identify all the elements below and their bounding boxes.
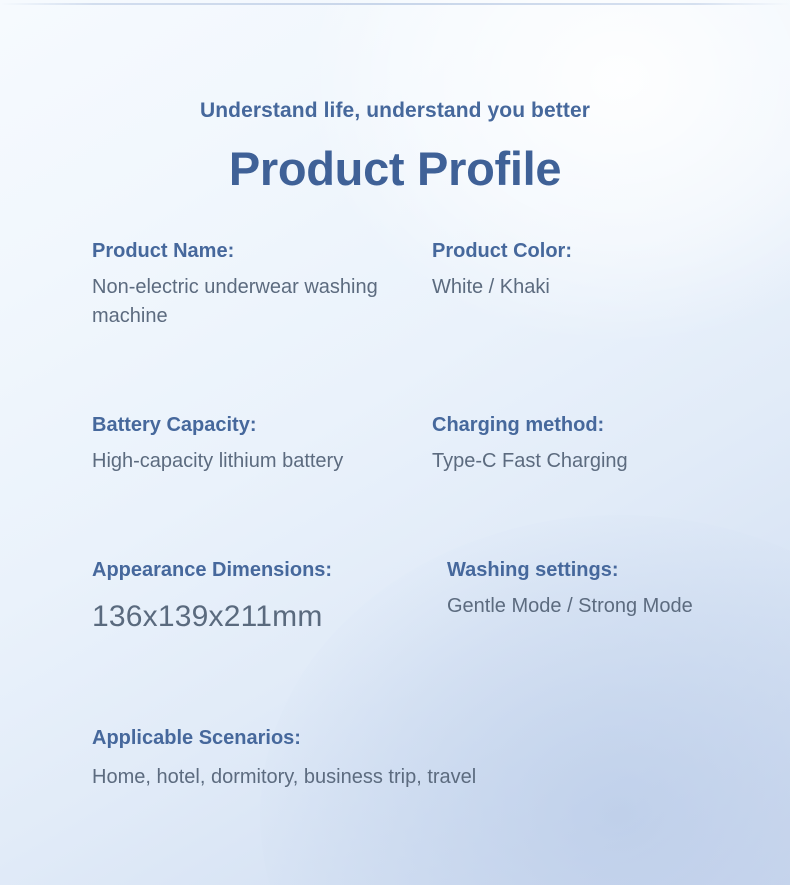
spec-value-washing-settings: Gentle Mode / Strong Mode <box>447 592 790 621</box>
spec-item-washing-settings: Washing settings: Gentle Mode / Strong M… <box>420 558 790 639</box>
spec-row: Product Name: Non-electric underwear was… <box>0 239 790 331</box>
spec-item-product-color: Product Color: White / Khaki <box>420 239 790 331</box>
spec-label-appearance-dimensions: Appearance Dimensions: <box>92 558 420 583</box>
spec-label-battery-capacity: Battery Capacity: <box>92 413 420 438</box>
poster-subtitle: Understand life, understand you better <box>0 98 790 123</box>
spec-label-product-name: Product Name: <box>92 239 420 264</box>
spec-item-applicable-scenarios: Applicable Scenarios: Home, hotel, dormi… <box>0 726 476 792</box>
spec-value-battery-capacity: High-capacity lithium battery <box>92 447 420 476</box>
poster-header: Understand life, understand you better P… <box>0 0 790 195</box>
spec-row: Appearance Dimensions: 136x139x211mm Was… <box>0 558 790 639</box>
product-profile-poster: Understand life, understand you better P… <box>0 0 790 885</box>
poster-content: Understand life, understand you better P… <box>0 0 790 885</box>
spec-label-product-color: Product Color: <box>432 239 790 264</box>
spec-value-product-name: Non-electric underwear washing machine <box>92 273 420 331</box>
spec-list: Product Name: Non-electric underwear was… <box>0 239 790 793</box>
spec-value-appearance-dimensions: 136x139x211mm <box>92 595 420 639</box>
spec-label-applicable-scenarios: Applicable Scenarios: <box>92 726 476 751</box>
spec-item-charging-method: Charging method: Type-C Fast Charging <box>420 413 790 476</box>
page-title: Product Profile <box>0 143 790 195</box>
spec-item-battery-capacity: Battery Capacity: High-capacity lithium … <box>0 413 420 476</box>
spec-label-washing-settings: Washing settings: <box>447 558 790 583</box>
spec-label-charging-method: Charging method: <box>432 413 790 438</box>
spec-row: Battery Capacity: High-capacity lithium … <box>0 413 790 476</box>
spec-value-product-color: White / Khaki <box>432 273 790 302</box>
spec-item-product-name: Product Name: Non-electric underwear was… <box>0 239 420 331</box>
spec-value-applicable-scenarios: Home, hotel, dormitory, business trip, t… <box>92 763 476 792</box>
spec-row: Applicable Scenarios: Home, hotel, dormi… <box>0 726 790 792</box>
spec-value-charging-method: Type-C Fast Charging <box>432 447 790 476</box>
spec-item-appearance-dimensions: Appearance Dimensions: 136x139x211mm <box>0 558 420 639</box>
